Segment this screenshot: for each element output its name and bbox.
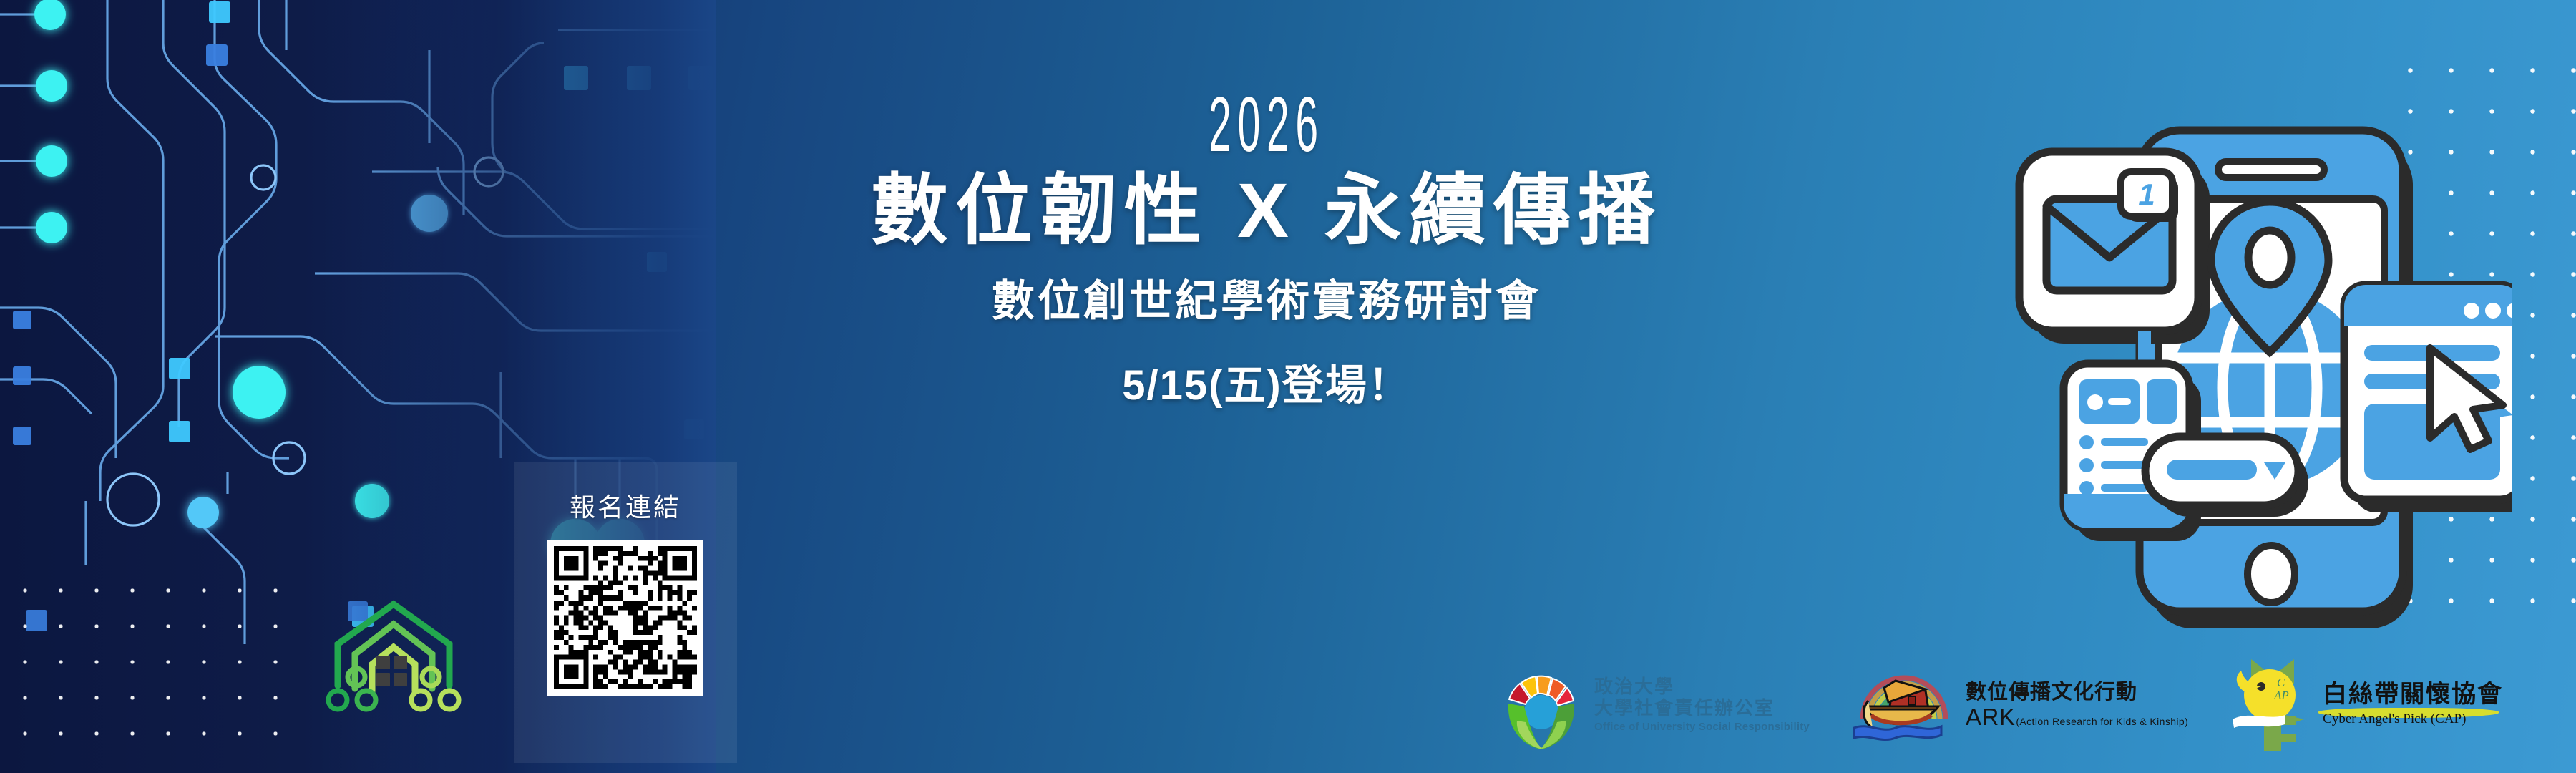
usr-line-2: 大學社會責任辦公室 xyxy=(1594,698,1810,719)
circuit-house-icon xyxy=(322,593,465,736)
cap-line-1: 白絲帶關懷協會 xyxy=(2323,682,2503,708)
ark-full-name: (Action Research for Kids & Kinship) xyxy=(2016,716,2188,726)
digital-devices-illustration: 1 xyxy=(1996,21,2512,644)
event-banner: 報名連結 2026 數位韌性 X 永續傳播 數位創世紀學術實務研討會 5/15(… xyxy=(0,0,2576,773)
logo-ark: 數位傳播文化行動 ARK (Action Research for Kids &… xyxy=(1851,659,2188,751)
dot-grid-bottom-left xyxy=(7,573,308,766)
noahs-ark-rainbow-icon xyxy=(1851,659,1958,751)
usr-line-3: Office of University Social Responsibili… xyxy=(1594,720,1810,734)
logo-nccu-usr-text: 政治大學 大學社會責任辦公室 Office of University Soci… xyxy=(1594,676,1810,734)
sub-title: 數位創世紀學術實務研討會 xyxy=(737,276,1796,327)
logo-cap-text: 白絲帶關懷協會 Cyber Angel's Pick (CAP) xyxy=(2323,682,2503,728)
headline-block: 2026 數位韌性 X 永續傳播 數位創世紀學術實務研討會 5/15(五)登場！ xyxy=(737,86,1796,412)
envelope-badge-count: 1 xyxy=(2138,178,2155,211)
usr-line-1: 政治大學 xyxy=(1594,676,1810,698)
registration-qr-card[interactable]: 報名連結 xyxy=(514,462,737,763)
event-year: 2026 xyxy=(938,86,1595,164)
ark-abbr: ARK xyxy=(1966,705,2015,729)
ark-line-1: 數位傳播文化行動 xyxy=(1966,681,2188,703)
svg-text:C: C xyxy=(2277,676,2285,689)
qr-code[interactable] xyxy=(547,540,703,696)
partner-logos: 政治大學 大學社會責任辦公室 Office of University Soci… xyxy=(1496,644,2562,766)
cap-line-2: Cyber Angel's Pick (CAP) xyxy=(2323,711,2503,728)
sdg-flower-icon xyxy=(1496,659,1587,751)
logo-cap: C AP 白絲帶關懷協會 Cyber Angel's Pick (CAP) xyxy=(2230,655,2503,755)
cyber-angel-key-icon: C AP xyxy=(2230,655,2316,755)
logo-ark-text: 數位傳播文化行動 ARK (Action Research for Kids &… xyxy=(1966,681,2188,728)
qr-card-title: 報名連結 xyxy=(570,487,681,524)
event-date: 5/15(五)登場！ xyxy=(737,351,1796,412)
logo-nccu-usr: 政治大學 大學社會責任辦公室 Office of University Soci… xyxy=(1496,659,1810,751)
ark-line-2: ARK (Action Research for Kids & Kinship) xyxy=(1966,705,2188,729)
main-title: 數位韌性 X 永續傳播 xyxy=(737,167,1796,254)
svg-text:AP: AP xyxy=(2273,689,2289,702)
qr-code-canvas xyxy=(554,546,697,689)
